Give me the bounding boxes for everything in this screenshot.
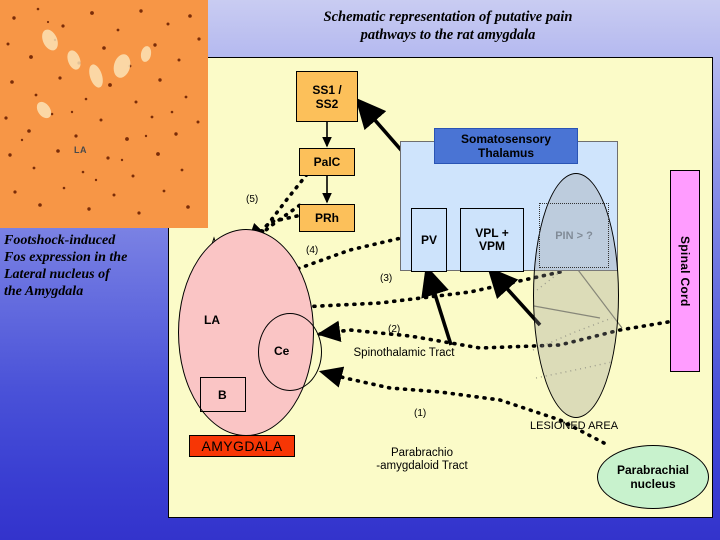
histology-photomicrograph: LA: [0, 0, 208, 228]
amygdala-nucleus-ce-outline[interactable]: [258, 313, 322, 391]
tract-number-2: (2): [388, 324, 400, 335]
amygdala-label-text: AMYGDALA: [202, 438, 283, 454]
ce-label: Ce: [274, 344, 289, 358]
cortex-box-ss1-ss2[interactable]: SS1 / SS2: [296, 71, 358, 122]
tract-number-5: (5): [246, 194, 258, 205]
cortex-box-palc[interactable]: PalC: [299, 148, 355, 176]
spinothalamic-text: Spinothalamic Tract: [354, 347, 455, 359]
thalamus-header-line-1: Somatosensory: [461, 132, 551, 146]
caption-line-2: Fos expression in the: [4, 249, 174, 266]
tract-number-3: (3): [380, 273, 392, 284]
spinal-cord-label: Spinal Cord: [678, 236, 692, 307]
pb-amyg-line-1: Parabrachio: [362, 447, 482, 460]
title-line-2: pathways to the rat amygdala: [208, 26, 688, 44]
pbn-line-2: nucleus: [617, 477, 689, 491]
pin-label: PIN > ?: [555, 230, 593, 242]
spinal-cord-box[interactable]: Spinal Cord: [670, 170, 700, 372]
caption-line-3: Lateral nucleus of: [4, 266, 174, 283]
amygdala-group-label: AMYGDALA: [189, 435, 295, 457]
thalamic-nucleus-vpl-vpm[interactable]: VPL + VPM: [460, 208, 524, 272]
lesioned-area-label: LESIONED AREA: [530, 420, 618, 432]
thalamus-header-line-2: Thalamus: [461, 146, 551, 160]
la-label: LA: [204, 313, 220, 327]
cortex-box-prh[interactable]: PRh: [299, 204, 355, 232]
thalamic-nucleus-pin[interactable]: PIN > ?: [539, 203, 609, 268]
title-line-1: Schematic representation of putative pai…: [208, 8, 688, 26]
pv-label: PV: [421, 234, 437, 247]
tract-number-1: (1): [414, 408, 426, 419]
prh-label: PRh: [315, 211, 339, 225]
b-label: B: [218, 388, 227, 402]
ss-line-1: SS1 /: [312, 83, 341, 97]
photo-caption: Footshock-induced Fos expression in the …: [0, 228, 174, 300]
slide-canvas: Schematic representation of putative pai…: [0, 0, 720, 540]
vpl-vpm-line-2: VPM: [475, 240, 508, 253]
tract-label-spinothalamic: Spinothalamic Tract: [330, 347, 478, 360]
parabrachial-nucleus[interactable]: Parabrachial nucleus: [597, 445, 709, 509]
photo-grain: [0, 0, 208, 228]
palc-label: PalC: [314, 155, 341, 169]
caption-line-1: Footshock-induced: [4, 232, 174, 249]
pbn-line-1: Parabrachial: [617, 463, 689, 477]
page-title: Schematic representation of putative pai…: [208, 8, 688, 44]
tract-number-4: (4): [306, 245, 318, 256]
thalamic-nucleus-pv[interactable]: PV: [411, 208, 447, 272]
caption-line-4: the Amygdala: [4, 283, 174, 300]
ss-line-2: SS2: [312, 97, 341, 111]
pb-amyg-line-2: -amygdaloid Tract: [362, 460, 482, 473]
thalamus-header: Somatosensory Thalamus: [434, 128, 578, 164]
photo-inset-label: LA: [74, 145, 87, 155]
tract-label-parabrachio-amygdaloid: Parabrachio -amygdaloid Tract: [362, 447, 482, 473]
